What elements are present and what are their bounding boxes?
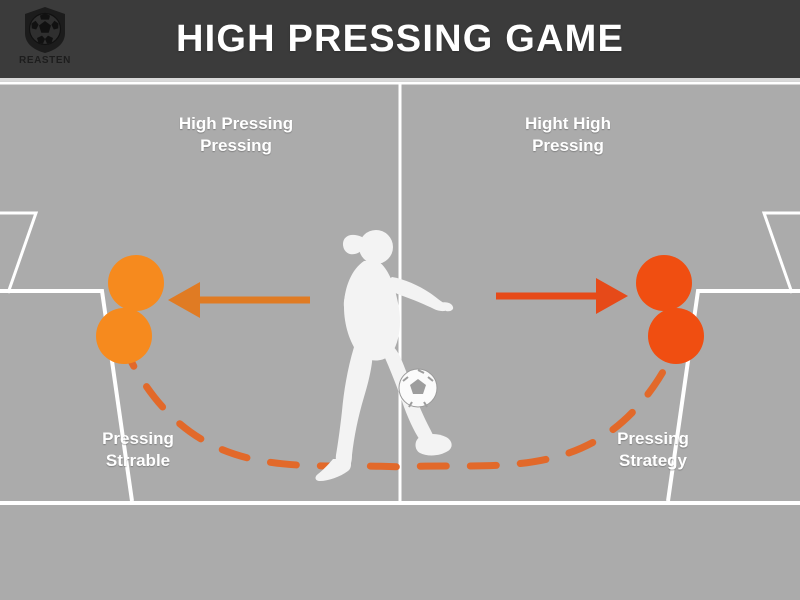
label-high-pressing-right: Hight High Pressing: [488, 113, 648, 157]
label-high-pressing-left: High Pressing Pressing: [156, 113, 316, 157]
label-pressing-strrable: Pressing Strrable: [58, 428, 218, 472]
page-title: HIGH PRESSING GAME: [0, 0, 800, 78]
right-marker-1[interactable]: [636, 255, 692, 311]
label-pressing-strategy: Pressing Strategy: [573, 428, 733, 472]
right-marker-2[interactable]: [648, 308, 704, 364]
soccer-ball-icon: [399, 369, 437, 407]
pitch-diagram: [0, 81, 800, 600]
slide-canvas: REASTEN HIGH PRESSING GAME: [0, 0, 800, 600]
left-marker-2[interactable]: [96, 308, 152, 364]
left-marker-1[interactable]: [108, 255, 164, 311]
